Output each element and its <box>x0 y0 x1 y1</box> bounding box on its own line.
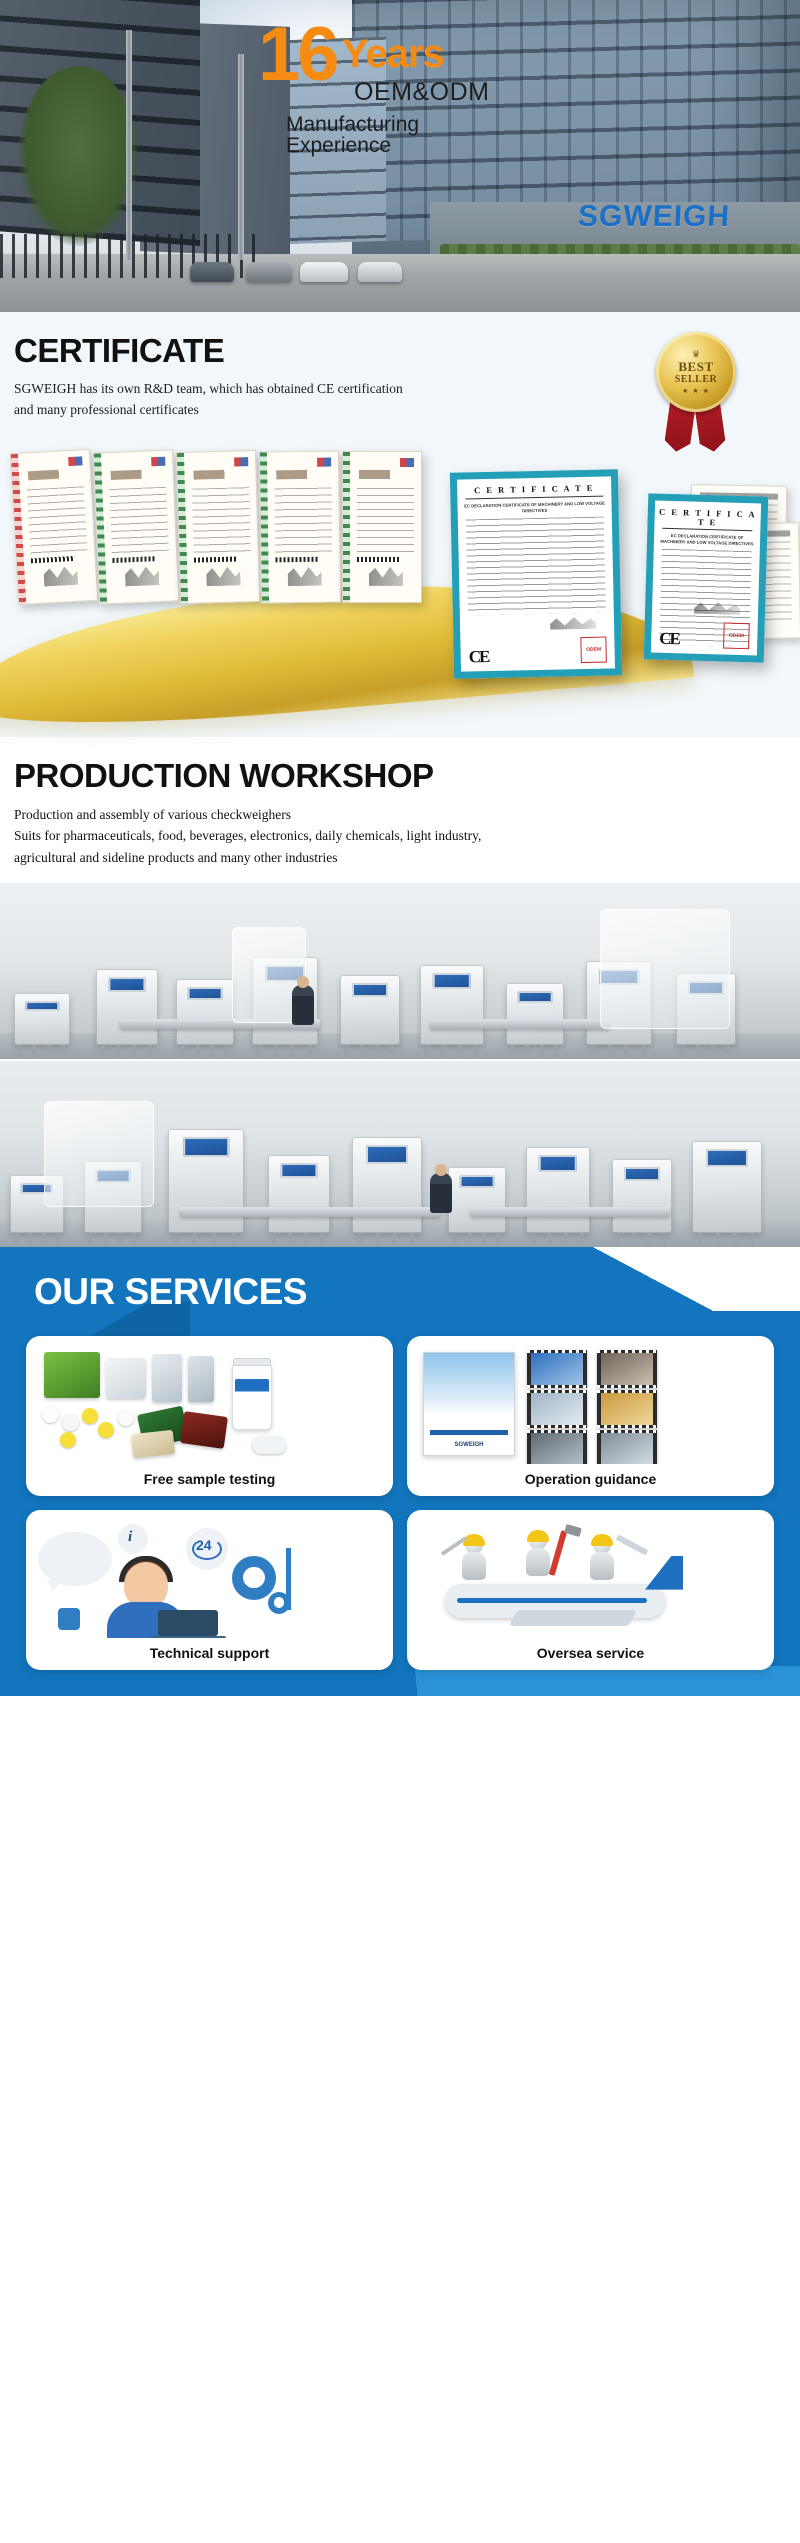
video-thumbnail <box>597 1390 657 1428</box>
conveyor-belt <box>180 1207 440 1217</box>
snack-pouch <box>131 1429 175 1457</box>
catalog-brand-name: SGWEIGH <box>424 1442 514 1448</box>
checkweigher-unit <box>340 975 400 1045</box>
certificate-edge <box>343 452 350 602</box>
snack-pouch <box>106 1358 146 1398</box>
headset-icon <box>119 1556 173 1582</box>
ce-certificate-subtitle: EC DECLARATION CERTIFICATE OF MACHINERY … <box>660 533 754 548</box>
badge-stars: ★ ★ ★ <box>682 387 710 395</box>
certificate-barcode <box>194 556 238 562</box>
certificate-barcode <box>275 557 319 563</box>
parked-car-1 <box>190 262 234 282</box>
product-catalog-cover: SGWEIGH <box>423 1352 515 1456</box>
figure-body <box>590 1552 614 1580</box>
certificate-edge <box>260 452 269 602</box>
certificate-description-line2: and many professional certificates <box>14 400 600 421</box>
certificate-signature <box>369 566 403 586</box>
airplane-stripe <box>457 1598 647 1603</box>
certificate-signature <box>125 565 160 586</box>
ce-mark-icon: CE <box>469 648 489 665</box>
ce-certificate-1[interactable]: C E R T I F I C A T E EC DECLARATION CER… <box>450 469 622 678</box>
cn-certificate-4[interactable] <box>259 450 341 603</box>
certificate-heading-bar <box>359 470 415 479</box>
checkweigher-unit <box>692 1141 762 1233</box>
certificate-signature <box>288 566 322 586</box>
certificate-description: SGWEIGH has its own R&D team, which has … <box>0 379 600 421</box>
laptop-icon <box>158 1610 218 1636</box>
ce-certificate-rule <box>662 528 752 532</box>
video-thumbnail <box>527 1390 587 1428</box>
worker-figure <box>430 1173 452 1213</box>
certificate-description-line1: SGWEIGH has its own R&D team, which has … <box>14 379 600 400</box>
certificate-edge <box>11 454 26 604</box>
checkweigher-unit <box>268 1155 330 1233</box>
wall-brand-logo: SGWEIGH <box>577 202 731 232</box>
service-card-oversea-service[interactable]: Oversea service <box>407 1510 774 1670</box>
wrench-icon <box>616 1534 649 1555</box>
video-thumbnail <box>527 1350 587 1388</box>
tree <box>18 66 138 246</box>
checkweigher-unit <box>14 993 70 1045</box>
badge-line1: BEST <box>678 360 713 373</box>
snack-pouch <box>44 1352 100 1398</box>
speech-bubble-large <box>38 1532 112 1586</box>
flag-mark <box>400 458 414 467</box>
ce-certificate-2[interactable]: C E R T I F I C A T E EC DECLARATION CER… <box>644 493 769 662</box>
manufacturing-experience-label: Manufacturing Experience <box>286 114 508 156</box>
oem-odm-label: OEM&ODM <box>354 80 489 105</box>
service-card-label: Oversea service <box>537 1646 644 1660</box>
video-thumbnail <box>597 1350 657 1388</box>
years-number: 16 <box>258 24 337 86</box>
service-card-operation-guidance[interactable]: SGWEIGH Operation guidance <box>407 1336 774 1496</box>
ce-certificate-title: C E R T I F I C A T E <box>658 508 756 528</box>
checkweigher-unit <box>506 983 564 1045</box>
checkweigher-unit <box>176 979 234 1045</box>
snack-pouch <box>188 1356 214 1402</box>
pill <box>62 1414 79 1431</box>
certificate-text-lines <box>357 488 414 556</box>
certificate-heading-bar <box>28 468 84 480</box>
pill <box>118 1410 134 1426</box>
pill <box>82 1408 98 1424</box>
certificate-heading-bar <box>111 469 167 480</box>
video-thumbnail <box>597 1430 657 1464</box>
gear-icon <box>232 1556 276 1600</box>
service-card-label: Operation guidance <box>525 1472 656 1486</box>
airplane-wing <box>509 1610 638 1626</box>
certificate-barcode <box>357 557 401 562</box>
ce-stamp-icon: ODEM <box>723 622 750 649</box>
cn-certificate-1[interactable] <box>10 449 98 605</box>
flag-mark <box>234 457 248 466</box>
checkweigher-unit <box>352 1137 422 1233</box>
catalog-and-video-thumbnails-art: SGWEIGH <box>417 1348 764 1464</box>
certificate-showcase: C E R T I F I C A T E EC DECLARATION CER… <box>0 437 800 737</box>
utility-pole-right <box>238 54 244 260</box>
info-icon: i <box>128 1530 132 1545</box>
certificate-heading-bar <box>193 469 249 480</box>
crown-icon: ♛ <box>692 350 700 359</box>
support-agent-art: i 24 <box>36 1522 383 1638</box>
worker-figure <box>292 985 314 1025</box>
certificate-text-lines <box>192 487 251 557</box>
checkweigher-unit <box>96 969 158 1045</box>
bottle-cap <box>233 1358 271 1366</box>
checkweigher-unit <box>448 1167 506 1233</box>
hammer-icon <box>549 1530 567 1576</box>
certificate-barcode <box>112 556 156 563</box>
conveyor-belt <box>470 1207 670 1217</box>
workshop-description-line3: agricultural and sideline products and m… <box>14 847 800 869</box>
figure-body <box>526 1548 550 1576</box>
catalog-cover-image <box>424 1353 514 1415</box>
checkweigher-unit <box>420 965 484 1045</box>
workshop-section-title: PRODUCTION WORKSHOP <box>0 759 800 804</box>
flag-mark <box>317 457 331 466</box>
service-card-technical-support[interactable]: i 24 Technical support <box>26 1510 393 1670</box>
sample-products-art <box>36 1348 383 1464</box>
conveyor-belt <box>430 1019 610 1029</box>
services-section-title: OUR SERVICES <box>0 1247 800 1310</box>
cn-certificate-5[interactable] <box>342 451 422 603</box>
checkweigher-unit <box>168 1129 244 1233</box>
service-card-label: Technical support <box>150 1646 270 1660</box>
tablet-blister <box>252 1436 286 1454</box>
checkweigher-unit <box>526 1147 590 1233</box>
figure-body <box>462 1552 486 1580</box>
workshop-description: Production and assembly of various check… <box>0 804 800 869</box>
parked-car-3 <box>300 262 348 282</box>
certificate-text-lines <box>109 487 169 557</box>
parked-car-2 <box>246 262 292 282</box>
protective-wrap-film <box>600 909 730 1029</box>
thumbs-up-icon <box>58 1608 80 1630</box>
bottle-label <box>235 1379 269 1420</box>
cn-certificate-2[interactable] <box>93 449 179 604</box>
pill <box>42 1406 59 1423</box>
ce-certificate-footer: CE ODEM <box>468 636 607 665</box>
ce-mark-icon: CE <box>659 630 679 648</box>
pill <box>60 1432 76 1448</box>
service-card-free-sample-testing[interactable]: Free sample testing <box>26 1336 393 1496</box>
utility-pole-left <box>126 30 132 260</box>
speech-bubble-small <box>118 1524 148 1554</box>
badge-line2: SELLER <box>675 375 717 385</box>
checkweigher-unit <box>612 1159 672 1233</box>
best-seller-badge: ♛ BEST SELLER ★ ★ ★ <box>648 330 744 454</box>
snack-pouch <box>152 1354 182 1402</box>
workshop-photo-2 <box>0 1061 800 1247</box>
workshop-description-line2: Suits for pharmaceuticals, food, beverag… <box>14 825 800 847</box>
services-card-grid: Free sample testing SGWEIGH <box>0 1310 800 1670</box>
snack-pouch <box>180 1411 228 1449</box>
certificate-signature <box>206 565 241 586</box>
product-detail-page: SGWEIGH 16 Years OEM&ODM Manufacturing E… <box>0 0 800 1696</box>
parked-car-4 <box>358 262 402 282</box>
workshop-photo-1 <box>0 883 800 1059</box>
accent-bar <box>286 1548 291 1610</box>
our-services-section: OUR SERVICES <box>0 1247 800 1696</box>
pill <box>98 1422 114 1438</box>
hero-banner: SGWEIGH 16 Years OEM&ODM Manufacturing E… <box>0 0 800 312</box>
years-word: Years <box>342 34 444 74</box>
cn-certificate-3[interactable] <box>176 450 260 604</box>
ce-certificate-body-lines <box>466 516 606 615</box>
production-workshop-section: PRODUCTION WORKSHOP Production and assem… <box>0 737 800 1247</box>
certificate-signature <box>43 565 78 587</box>
services-bottom-wedge <box>0 1666 800 1696</box>
video-thumbnail <box>527 1430 587 1464</box>
oversea-engineers-plane-art <box>417 1522 764 1638</box>
certificate-text-lines <box>27 486 88 557</box>
ce-certificate-title: C E R T I F I C A T E <box>461 483 607 495</box>
certificate-section: CERTIFICATE SGWEIGH has its own R&D team… <box>0 312 800 737</box>
badge-medal-icon: ♛ BEST SELLER ★ ★ ★ <box>656 332 736 412</box>
catalog-footer-bar <box>430 1430 508 1435</box>
ce-certificate-footer: CE ODEM <box>659 621 750 650</box>
certificate-text-lines <box>274 487 332 556</box>
hammer-head-icon <box>564 1524 582 1537</box>
airplane-tail <box>645 1556 683 1590</box>
ce-stamp-icon: ODEM <box>580 636 607 663</box>
workshop-description-line1: Production and assembly of various check… <box>14 804 800 826</box>
ce-certificate-signature <box>550 615 596 630</box>
flag-mark <box>151 457 165 467</box>
supplement-bottle <box>232 1364 272 1430</box>
ce-certificate-subtitle: EC DECLARATION CERTIFICATE OF MACHINERY … <box>463 500 605 515</box>
ce-certificate-rule <box>465 495 603 499</box>
flag-mark <box>68 456 82 466</box>
certificate-heading-bar <box>276 469 332 479</box>
hours-24-icon: 24 <box>196 1538 212 1552</box>
protective-wrap-film <box>44 1101 154 1207</box>
service-card-label: Free sample testing <box>144 1472 276 1486</box>
certificate-edge <box>177 453 188 603</box>
